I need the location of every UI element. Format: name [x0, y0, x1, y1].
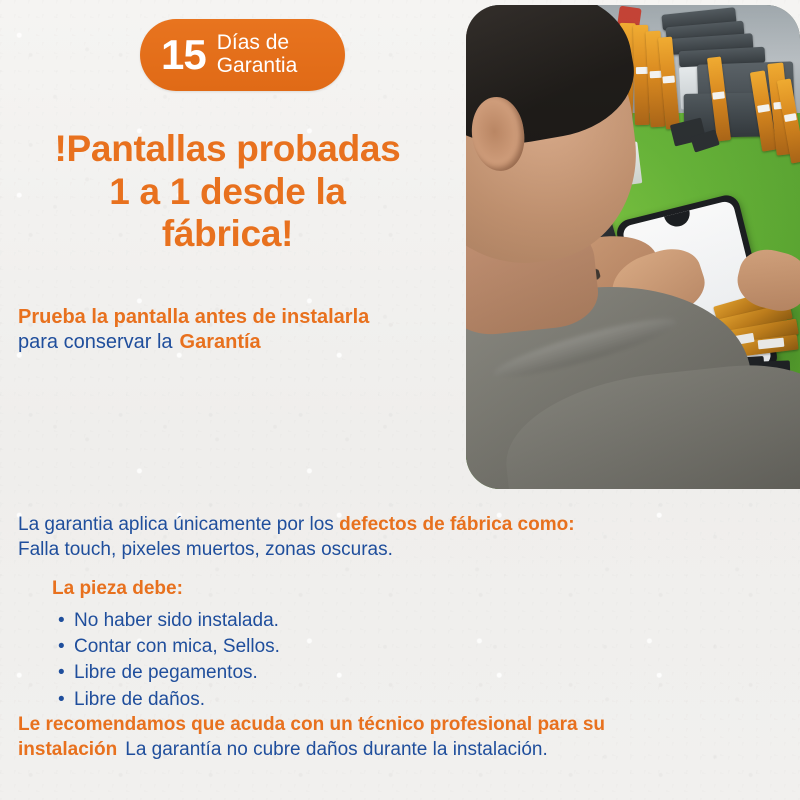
bullet-icon: •	[58, 634, 74, 660]
subheadline-line-2-plain: para conservar la	[18, 331, 173, 353]
bullet-icon: •	[58, 687, 74, 713]
list-item-label: No haber sido instalada.	[74, 610, 279, 631]
footer-paragraph: Le recomendamos que acuda con un técnico…	[18, 712, 786, 763]
photo-overlay	[466, 5, 800, 489]
technician-photo	[466, 5, 800, 489]
footer-accent-line-1: Le recomendamos que acuda con un técnico…	[18, 714, 605, 735]
warranty-days-badge: 15 Días de Garantia	[140, 19, 345, 91]
subheadline-line-2-accent: Garantía	[180, 331, 261, 353]
list-item: •Libre de pegamentos.	[58, 660, 280, 686]
headline-line-1: !Pantallas probadas	[0, 128, 455, 171]
badge-caption: Días de Garantia	[217, 32, 298, 77]
footer-accent-line-2: instalación	[18, 739, 117, 760]
headline: !Pantallas probadas 1 a 1 desde la fábri…	[0, 128, 455, 256]
conditions-list: •No haber sido instalada. •Contar con mi…	[58, 608, 280, 713]
badge-caption-line1: Días de	[217, 32, 298, 54]
list-item: •Libre de daños.	[58, 687, 280, 713]
headline-line-3: fábrica!	[0, 213, 455, 256]
list-item: •Contar con mica, Sellos.	[58, 634, 280, 660]
subheadline-line-2: para conservar laGarantía	[18, 330, 458, 355]
subheadline-line-1: Prueba la pantalla antes de instalarla	[18, 305, 458, 330]
list-item-label: Contar con mica, Sellos.	[74, 636, 280, 657]
badge-caption-line2: Garantia	[217, 55, 298, 77]
headline-line-2: 1 a 1 desde la	[0, 171, 455, 214]
subheadline: Prueba la pantalla antes de instalarla p…	[18, 305, 458, 355]
list-item-label: Libre de daños.	[74, 689, 205, 710]
photo-scene	[466, 5, 800, 489]
warranty-line-1-accent: defectos de fábrica como:	[339, 514, 574, 535]
conditions-heading: La pieza debe:	[52, 578, 183, 600]
list-item: •No haber sido instalada.	[58, 608, 280, 634]
list-item-label: Libre de pegamentos.	[74, 662, 258, 683]
warranty-line-2: Falla touch, pixeles muertos, zonas oscu…	[18, 539, 393, 560]
warranty-line-1-plain: La garantia aplica únicamente por los	[18, 514, 334, 535]
promo-poster: 15 Días de Garantia !Pantallas probadas …	[0, 0, 800, 800]
badge-number: 15	[161, 34, 206, 76]
bullet-icon: •	[58, 608, 74, 634]
footer-plain-text: La garantía no cubre daños durante la in…	[125, 739, 548, 760]
warranty-paragraph: La garantia aplica únicamente por los de…	[18, 512, 778, 563]
bullet-icon: •	[58, 660, 74, 686]
